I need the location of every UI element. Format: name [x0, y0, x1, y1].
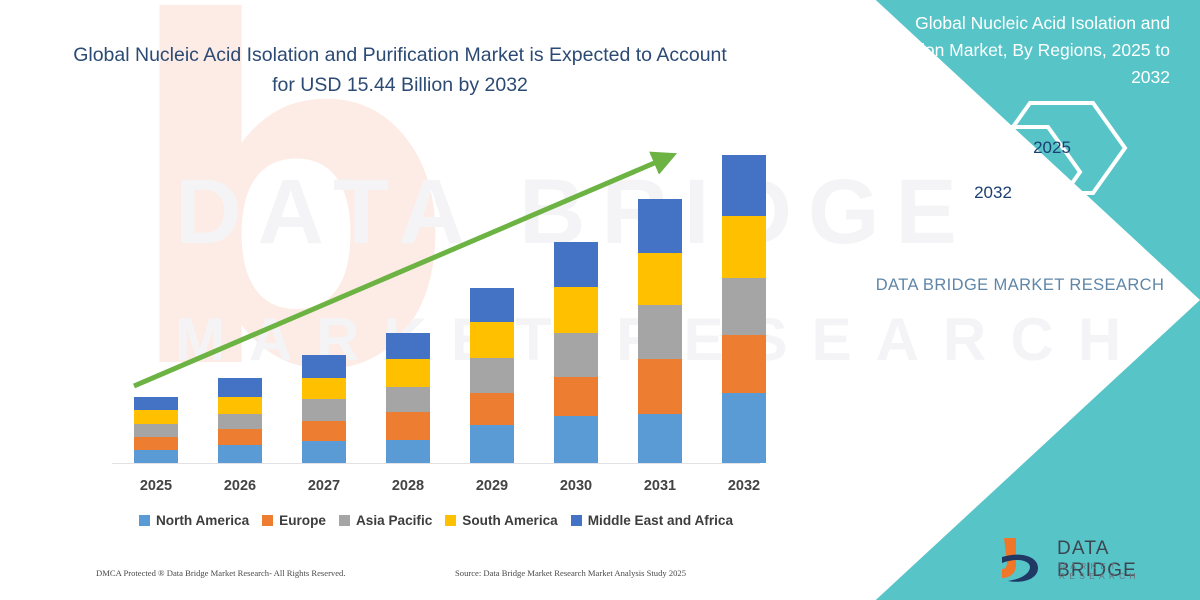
- x-axis-label-2030: 2030: [541, 478, 611, 494]
- bar-2026: [218, 378, 262, 463]
- bar-segment: [134, 437, 178, 450]
- data-bridge-logo: DATA BRIDGE MARKET RESEARCH: [992, 533, 1192, 589]
- bar-2030: [554, 242, 598, 463]
- legend-swatch-icon: [139, 515, 150, 526]
- bar-segment: [470, 393, 514, 425]
- bar-segment: [638, 305, 682, 359]
- panel-brand-text: DATA BRIDGE MARKET RESEARCH: [870, 272, 1170, 299]
- bar-segment: [218, 378, 262, 397]
- bar-segment: [134, 424, 178, 437]
- x-axis-label-2029: 2029: [457, 478, 527, 494]
- chart-legend: North AmericaEuropeAsia PacificSouth Ame…: [112, 513, 760, 528]
- footer-dmca-notice: DMCA Protected ® Data Bridge Market Rese…: [96, 568, 346, 578]
- legend-label: Europe: [279, 513, 326, 528]
- bar-segment: [218, 397, 262, 414]
- bar-segment: [722, 393, 766, 463]
- bar-segment: [302, 441, 346, 463]
- bar-segment: [302, 378, 346, 399]
- bar-segment: [638, 199, 682, 253]
- bar-segment: [386, 440, 430, 463]
- bar-segment: [554, 416, 598, 463]
- bar-segment: [638, 414, 682, 463]
- bar-segment: [722, 335, 766, 393]
- legend-swatch-icon: [571, 515, 582, 526]
- bar-segment: [302, 399, 346, 421]
- x-axis-label-2032: 2032: [709, 478, 779, 494]
- legend-item[interactable]: Europe: [262, 513, 326, 528]
- bar-2025: [134, 397, 178, 463]
- bar-segment: [554, 377, 598, 416]
- bar-segment: [386, 412, 430, 440]
- bar-segment: [638, 359, 682, 414]
- legend-label: Asia Pacific: [356, 513, 432, 528]
- legend-swatch-icon: [262, 515, 273, 526]
- bar-segment: [218, 445, 262, 463]
- bar-segment: [134, 410, 178, 424]
- footer-source-note: Source: Data Bridge Market Research Mark…: [455, 568, 686, 578]
- bar-segment: [302, 355, 346, 378]
- legend-swatch-icon: [445, 515, 456, 526]
- legend-item[interactable]: Middle East and Africa: [571, 513, 733, 528]
- bar-segment: [638, 253, 682, 305]
- bar-segment: [554, 333, 598, 377]
- bar-2029: [470, 288, 514, 463]
- legend-item[interactable]: North America: [139, 513, 249, 528]
- legend-label: North America: [156, 513, 249, 528]
- bar-segment: [554, 242, 598, 287]
- bar-segment: [218, 429, 262, 445]
- bar-segment: [218, 414, 262, 429]
- bar-2028: [386, 333, 430, 463]
- chart-plot-area: 20252026202720282029203020312032: [0, 0, 800, 600]
- bar-segment: [470, 425, 514, 463]
- bar-segment: [470, 358, 514, 393]
- x-axis-label-2031: 2031: [625, 478, 695, 494]
- x-axis-label-2028: 2028: [373, 478, 443, 494]
- bar-segment: [470, 288, 514, 322]
- bar-segment: [722, 278, 766, 335]
- bar-2027: [302, 355, 346, 463]
- legend-item[interactable]: Asia Pacific: [339, 513, 432, 528]
- db-mark-icon: [992, 535, 1054, 587]
- bar-segment: [386, 359, 430, 387]
- x-axis-label-2027: 2027: [289, 478, 359, 494]
- bar-2032: [722, 155, 766, 463]
- x-axis-label-2025: 2025: [121, 478, 191, 494]
- bar-2031: [638, 199, 682, 463]
- bar-segment: [386, 387, 430, 412]
- bar-segment: [134, 450, 178, 463]
- bar-segment: [722, 216, 766, 278]
- bar-segment: [302, 421, 346, 441]
- logo-tagline: MARKET RESEARCH: [1059, 561, 1192, 581]
- bar-segment: [554, 287, 598, 333]
- bar-segment: [722, 155, 766, 216]
- bar-segment: [470, 322, 514, 358]
- legend-label: Middle East and Africa: [588, 513, 733, 528]
- bar-segment: [386, 333, 430, 359]
- legend-item[interactable]: South America: [445, 513, 557, 528]
- legend-label: South America: [462, 513, 557, 528]
- panel-title: Global Nucleic Acid Isolation and Purifi…: [830, 10, 1170, 91]
- infographic-root: b DATA BRIDGE MARKET RESEARCH Global Nuc…: [0, 0, 1200, 600]
- bar-segment: [134, 397, 178, 410]
- legend-swatch-icon: [339, 515, 350, 526]
- x-axis-label-2026: 2026: [205, 478, 275, 494]
